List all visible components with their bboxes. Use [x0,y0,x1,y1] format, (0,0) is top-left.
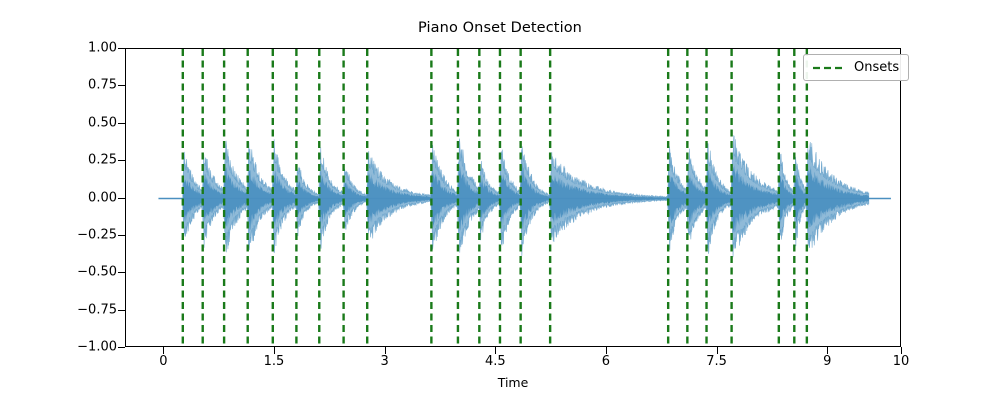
y-tick-label: 0.00 [59,190,117,205]
y-tick-label: −0.75 [59,302,117,317]
x-tick-label: 0 [159,354,167,369]
y-tick-label: −0.50 [59,265,117,280]
x-tick-mark [274,347,275,354]
y-tick-label: 0.25 [59,153,117,168]
y-tick-mark [118,347,125,348]
plot-area [125,48,901,347]
y-tick-mark [118,272,125,273]
onsets-legend-swatch [812,62,846,74]
x-tick-mark [606,347,607,354]
y-tick-label: −0.25 [59,227,117,242]
y-tick-label: 1.00 [59,41,117,56]
onset-lines-layer [126,49,901,347]
x-tick-label: 10 [893,354,910,369]
x-tick-label: 7.5 [706,354,727,369]
y-tick-mark [118,85,125,86]
page-title: Piano Onset Detection [0,20,1000,36]
x-tick-label: 6 [602,354,610,369]
x-tick-label: 9 [823,354,831,369]
y-tick-mark [118,48,125,49]
x-tick-mark [717,347,718,354]
x-tick-label: 3 [381,354,389,369]
y-tick-label: 0.75 [59,78,117,93]
x-tick-label: 4.5 [485,354,506,369]
x-axis-label: Time [125,375,901,390]
y-tick-mark [118,198,125,199]
x-axis-tick-labels: 01.534.567.5910 [0,349,1000,373]
x-tick-label: 1.5 [264,354,285,369]
y-tick-mark [118,310,125,311]
figure-canvas: Piano Onset Detection 1.000.750.500.250.… [0,0,1000,400]
y-tick-mark [118,160,125,161]
x-tick-mark [385,347,386,354]
y-tick-mark [118,123,125,124]
x-tick-mark [495,347,496,354]
y-tick-label: 0.50 [59,115,117,130]
x-tick-mark [827,347,828,354]
y-tick-mark [118,235,125,236]
legend: Onsets [803,54,909,81]
x-tick-mark [901,347,902,354]
x-tick-mark [163,347,164,354]
y-axis-tick-labels: 1.000.750.500.250.00−0.25−0.50−0.75−1.00 [55,48,117,347]
legend-label-onsets: Onsets [854,60,899,75]
